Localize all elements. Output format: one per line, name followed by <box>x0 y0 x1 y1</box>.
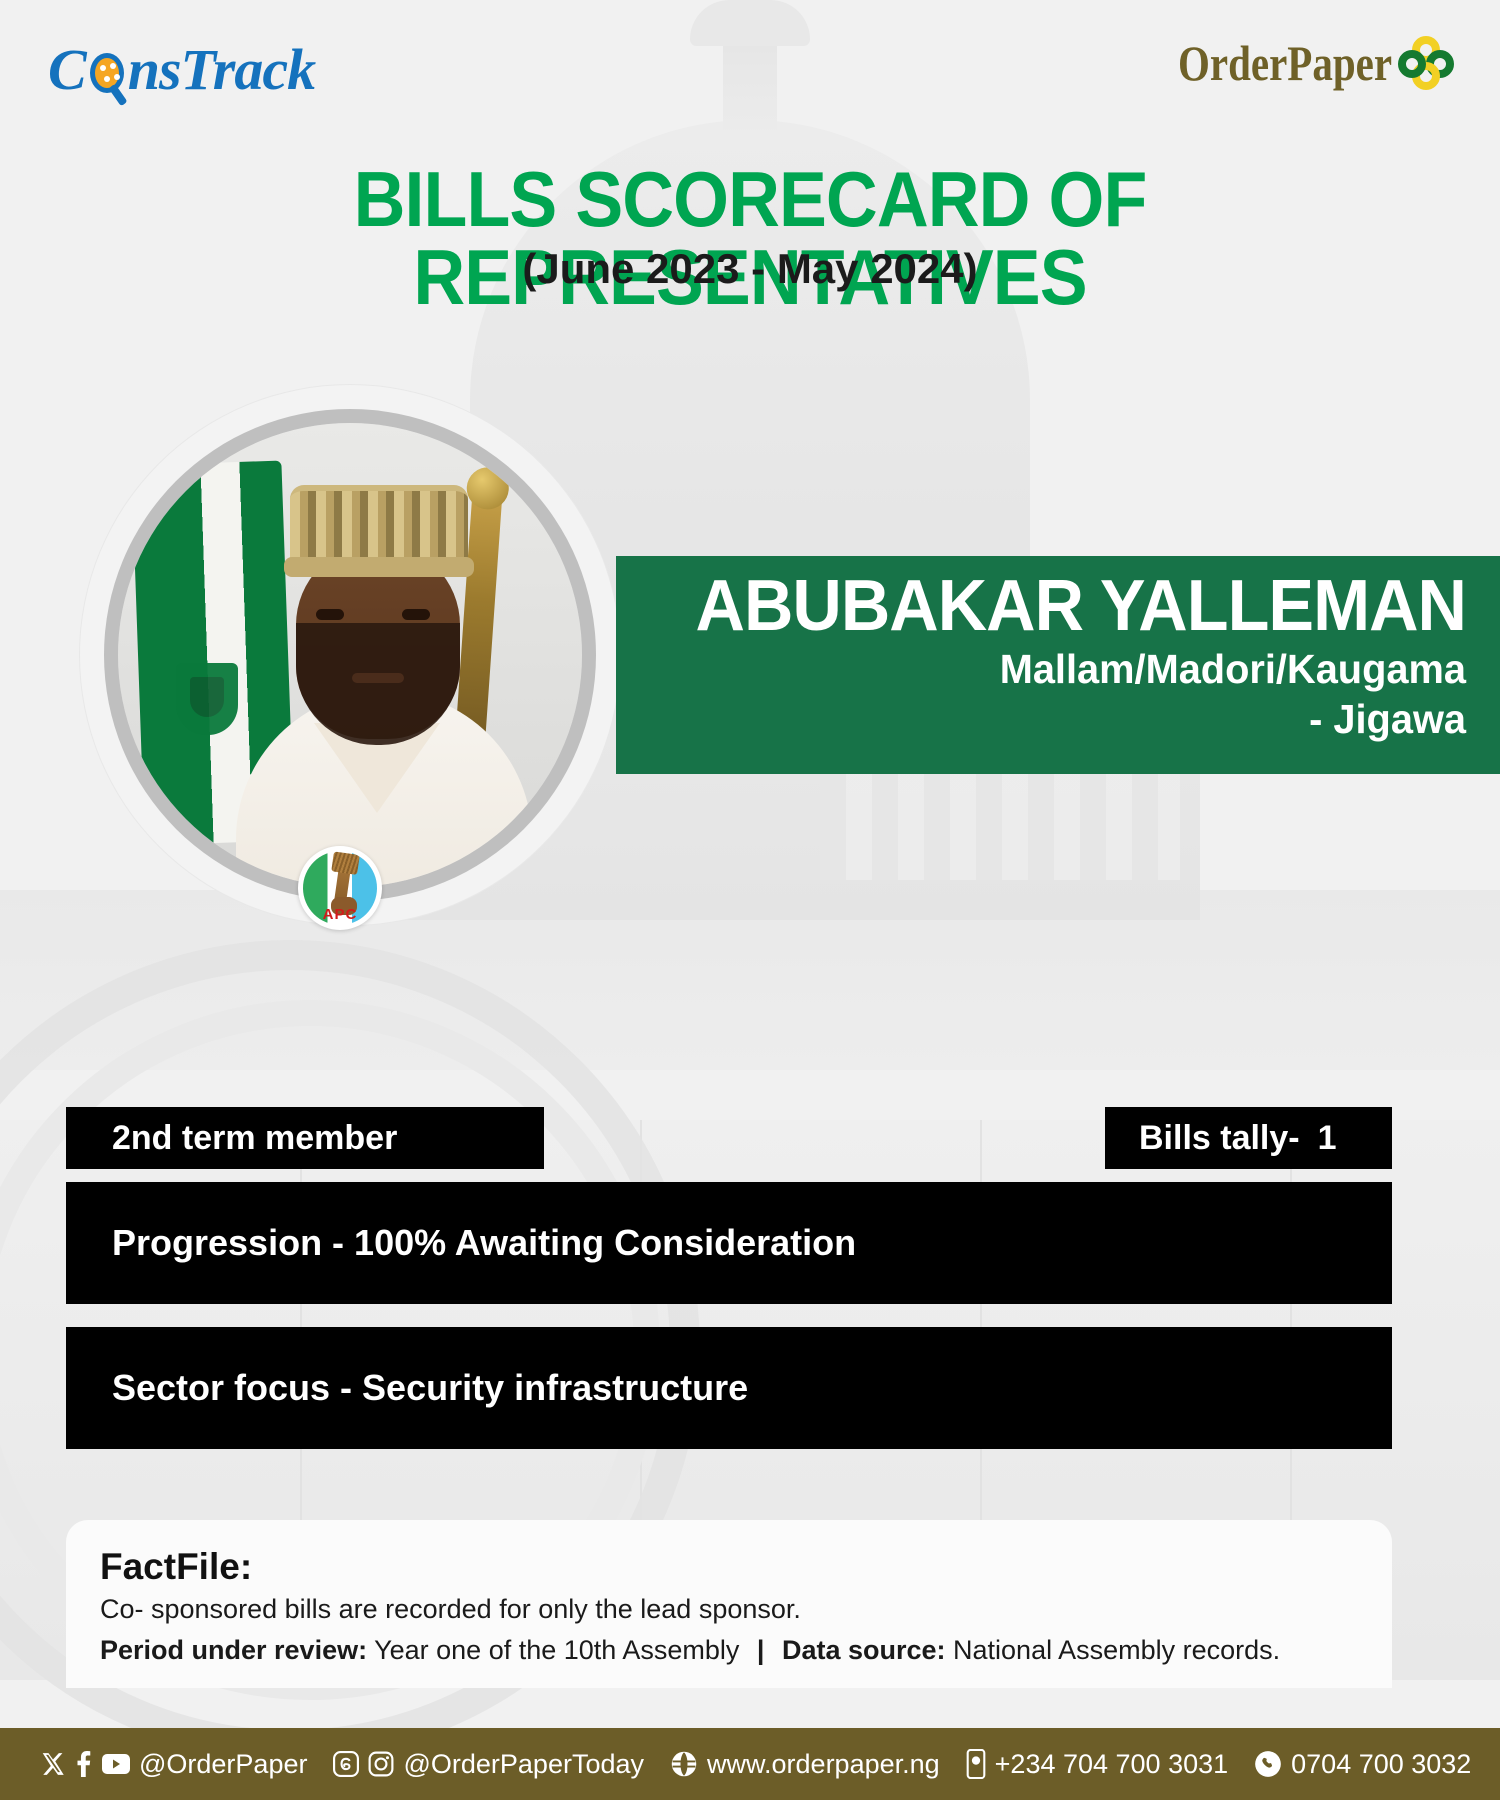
factfile-period-label: Period under review: <box>100 1635 367 1665</box>
member-name: ABUBAKAR YALLEMAN <box>681 570 1466 643</box>
footer-handle-primary[interactable]: @OrderPaper <box>139 1749 307 1780</box>
orderpaper-knot-icon <box>1398 36 1454 90</box>
term-label: 2nd term member <box>112 1119 397 1158</box>
photo-eye <box>402 609 430 620</box>
factfile-title: FactFile: <box>100 1546 1358 1588</box>
photo-cap <box>290 485 468 567</box>
constrack-logo-prefix: C <box>48 37 86 102</box>
footer-whatsapp-number[interactable]: 0704 700 3032 <box>1291 1749 1471 1780</box>
factfile-source-value: National Assembly records. <box>953 1635 1280 1665</box>
instagram-icon[interactable] <box>368 1751 394 1777</box>
factfile-source-label: Data source: <box>782 1635 946 1665</box>
footer-phone-number[interactable]: +234 704 700 3031 <box>995 1749 1228 1780</box>
footer-social-primary[interactable]: @OrderPaper <box>40 1749 307 1780</box>
party-logo-label: APC <box>303 906 377 923</box>
magnifier-icon <box>86 51 128 97</box>
factfile-period-value: Year one of the 10th Assembly <box>374 1635 739 1665</box>
bills-tally-badge: Bills tally- 1 <box>1105 1107 1392 1169</box>
threads-icon[interactable] <box>333 1751 359 1777</box>
member-portrait <box>80 385 620 925</box>
party-logo-apc: APC <box>298 846 382 930</box>
progression-bar: Progression - 100% Awaiting Consideratio… <box>66 1182 1392 1304</box>
mobile-phone-icon <box>966 1749 986 1779</box>
term-badge: 2nd term member <box>66 1107 544 1169</box>
footer-website[interactable]: www.orderpaper.ng <box>670 1749 940 1780</box>
orderpaper-logo-text: OrderPaper <box>1178 34 1392 92</box>
factfile-note: Co- sponsored bills are recorded for onl… <box>100 1594 1358 1625</box>
sector-focus-text: Sector focus - Security infrastructure <box>112 1367 748 1409</box>
footer-handle-secondary[interactable]: @OrderPaperToday <box>403 1749 644 1780</box>
footer-bar: @OrderPaper @OrderPaperToday www.orderpa… <box>0 1728 1500 1800</box>
constrack-logo-suffix: nsTrack <box>128 37 315 102</box>
footer-phone[interactable]: +234 704 700 3031 <box>966 1749 1228 1780</box>
footer-whatsapp[interactable]: 0704 700 3032 <box>1254 1749 1471 1780</box>
member-name-banner: ABUBAKAR YALLEMAN Mallam/Madori/Kaugama … <box>616 556 1500 774</box>
factfile-meta: Period under review: Year one of the 10t… <box>100 1635 1358 1666</box>
progression-text: Progression - 100% Awaiting Consideratio… <box>112 1222 856 1264</box>
member-constituency-line1: Mallam/Madori/Kaugama <box>665 647 1466 693</box>
member-constituency-line2: - Jigawa <box>665 697 1466 743</box>
constrack-logo[interactable]: CnsTrack <box>48 36 315 103</box>
footer-website-url[interactable]: www.orderpaper.ng <box>707 1749 940 1780</box>
page-subtitle-period: (June 2023 - May 2024) <box>0 245 1500 293</box>
coat-of-arms <box>176 663 238 735</box>
whatsapp-icon <box>1254 1750 1282 1778</box>
x-twitter-icon[interactable] <box>40 1751 66 1777</box>
sector-focus-bar: Sector focus - Security infrastructure <box>66 1327 1392 1449</box>
bills-tally-value: 1 <box>1318 1119 1337 1158</box>
globe-icon <box>670 1750 698 1778</box>
orderpaper-logo[interactable]: OrderPaper <box>1131 34 1454 92</box>
factfile-panel: FactFile: Co- sponsored bills are record… <box>66 1520 1392 1688</box>
photo-mouth <box>352 673 404 683</box>
member-photo <box>118 423 582 887</box>
photo-eye <box>316 609 344 620</box>
youtube-icon[interactable] <box>102 1753 130 1775</box>
factfile-separator: | <box>757 1635 765 1665</box>
poster-canvas: CnsTrack OrderPaper BILLS SCORECARD OF R… <box>0 0 1500 1800</box>
facebook-icon[interactable] <box>75 1751 93 1777</box>
footer-social-secondary[interactable]: @OrderPaperToday <box>333 1749 644 1780</box>
bills-tally-label: Bills tally- <box>1139 1119 1300 1158</box>
